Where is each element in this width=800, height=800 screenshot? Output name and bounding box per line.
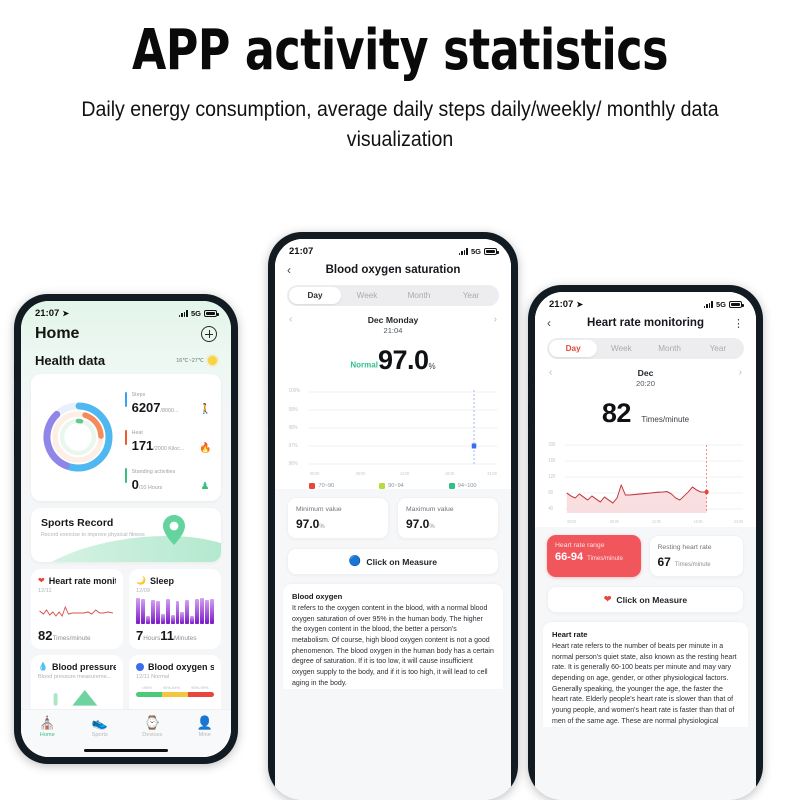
phone-center-blood-oxygen: 21:07 5G ‹ Blood oxygen saturation: [268, 232, 518, 800]
reading-value: 97.0: [378, 345, 429, 375]
mini-card-title: Blood pressure monitoring: [52, 662, 116, 672]
status-bar-right: 21:07 ➤ 5G: [535, 292, 756, 312]
svg-text:12:00: 12:00: [652, 519, 661, 524]
mini-card-title: Sleep: [150, 576, 174, 586]
svg-text:120: 120: [548, 474, 555, 479]
signal-icon: [459, 248, 468, 255]
blood-drop-icon: 🔵: [349, 556, 361, 567]
tab-day[interactable]: Day: [289, 287, 341, 304]
mini-card-value: 82: [38, 628, 52, 643]
sun-icon: [208, 356, 217, 365]
spo2-band-gauge: <90% 90%-94% 95%-99%: [136, 685, 214, 697]
sleep-bar-chart: [136, 598, 214, 624]
temperature-label: 16℃~27℃: [176, 358, 204, 364]
svg-text:24:00: 24:00: [734, 519, 743, 524]
prev-date-icon[interactable]: ‹: [549, 367, 552, 378]
blood-pressure-illustration: [38, 684, 116, 710]
card-value: 66-94: [555, 551, 583, 563]
mini-card-unit: Hours: [143, 635, 160, 642]
reading-value: 82: [602, 398, 631, 428]
heart-icon: ❤: [38, 576, 45, 585]
svg-text:80: 80: [548, 490, 553, 495]
phone-right-heart-rate: 21:07 ➤ 5G ‹ Heart rate monitoring ⋮: [528, 285, 763, 800]
tab-year[interactable]: Year: [694, 340, 742, 357]
page-title: APP activity statistics: [48, 22, 752, 81]
page-subtitle: Daily energy consumption, average daily …: [28, 95, 772, 156]
reading-unit: %: [429, 362, 436, 371]
heart-rate-range-card: Heart rate range 66-94Times/minute: [547, 535, 641, 577]
signal-icon: [704, 301, 713, 308]
network-label: 5G: [471, 247, 481, 256]
status-badge: Normal: [350, 360, 378, 369]
metric-value: 171: [132, 438, 154, 453]
svg-text:24:00: 24:00: [487, 471, 497, 476]
mini-card-title: Blood oxygen saturation: [148, 662, 214, 672]
svg-text:97%: 97%: [289, 443, 299, 449]
metric-heat: Heat 171/2000 Kiloc... 🔥: [125, 421, 211, 453]
tab-sports[interactable]: 👟 Sports: [74, 716, 127, 738]
sports-record-card[interactable]: Sports Record Record exercise to improve…: [31, 508, 221, 562]
chevron-left-icon[interactable]: ‹: [287, 263, 301, 277]
svg-text:160: 160: [548, 458, 555, 463]
reading-unit: Times/minute: [641, 415, 689, 424]
metric-goal: /10 Hours: [139, 485, 162, 491]
info-title: Heart rate: [552, 630, 739, 639]
minimum-value-card: Minimum value 97.0%: [287, 497, 389, 539]
tab-month[interactable]: Month: [393, 287, 445, 304]
battery-icon: [729, 301, 742, 308]
band-label: 90%-94%: [163, 685, 180, 690]
measure-button-label: Click on Measure: [366, 557, 437, 567]
walking-person-icon: 🚶: [199, 404, 211, 415]
svg-text:99%: 99%: [289, 407, 299, 413]
card-label: Resting heart rate: [658, 543, 736, 552]
mini-card-blood-oxygen[interactable]: Blood oxygen saturation 12/11 Normal <90…: [129, 655, 221, 716]
prev-date-icon[interactable]: ‹: [289, 314, 292, 325]
health-data-title: Health data: [35, 353, 105, 368]
spo2-legend: 70~90 90~94 94~100: [287, 483, 499, 489]
page-root: APP activity statistics Daily energy con…: [0, 0, 800, 800]
mini-card-heart-rate[interactable]: ❤ Heart rate monitoring 12/11 82Times/mi…: [31, 569, 123, 649]
network-label: 5G: [191, 309, 201, 318]
mini-card-value-2: 11: [160, 628, 174, 643]
spo2-reading: Normal97.0%: [275, 343, 511, 380]
blood-oxygen-info: Blood oxygen It refers to the oxygen con…: [283, 584, 503, 689]
svg-text:200: 200: [548, 442, 555, 447]
map-pin-icon: [161, 514, 187, 551]
info-body: Heart rate refers to the number of beats…: [552, 642, 739, 727]
card-unit: %: [429, 524, 434, 530]
phone-left-home: 21:07 ➤ 5G Home Health data: [14, 294, 238, 764]
tab-devices[interactable]: ⌚ Devices: [126, 716, 179, 738]
svg-text:100%: 100%: [289, 388, 301, 394]
tab-week[interactable]: Week: [341, 287, 393, 304]
heart-rate-summary-cards: Heart rate range 66-94Times/minute Resti…: [547, 535, 744, 577]
legend-item: 90~94: [379, 483, 404, 489]
date-navigator: ‹ Dec ›: [535, 359, 756, 379]
standing-person-icon: ♟: [199, 481, 211, 492]
measure-button[interactable]: ❤ Click on Measure: [547, 586, 744, 613]
card-value: 97.0: [296, 517, 319, 531]
heart-rate-reading: 82 Times/minute: [535, 396, 756, 433]
date-navigator: ‹ Dec Monday ›: [275, 306, 511, 326]
reading-time: 21:04: [275, 326, 511, 337]
mini-card-date: Blood pressure measureme...: [38, 674, 116, 680]
heart-rate-sparkline: [38, 598, 116, 624]
battery-icon: [204, 310, 217, 317]
card-label: Maximum value: [406, 505, 490, 514]
tab-year[interactable]: Year: [445, 287, 497, 304]
status-time: 21:07: [35, 308, 59, 319]
metric-label: Heat: [132, 430, 143, 436]
tab-day[interactable]: Day: [549, 340, 597, 357]
svg-text:96%: 96%: [289, 461, 299, 467]
next-date-icon[interactable]: ›: [494, 314, 497, 325]
tab-month[interactable]: Month: [646, 340, 694, 357]
flame-icon: 🔥: [199, 443, 211, 454]
status-time: 21:07: [289, 246, 313, 257]
metric-goal: /2000 Kiloc...: [153, 446, 184, 452]
metric-label: Steps: [132, 392, 146, 398]
network-label: 5G: [716, 300, 726, 309]
svg-text:18:00: 18:00: [445, 471, 455, 476]
home-indicator: [84, 749, 168, 752]
svg-text:98%: 98%: [289, 425, 299, 431]
signal-icon: [179, 310, 188, 317]
decorative-swoosh: [31, 524, 221, 562]
home-navbar: Home: [21, 321, 231, 343]
tab-mine[interactable]: 👤 Mine: [179, 716, 232, 738]
spo2-chart: 100%99%98% 97%96% 00:0006:0012:00 18:002…: [285, 382, 501, 478]
svg-text:18:00: 18:00: [694, 519, 703, 524]
mini-card-sleep[interactable]: 🌙 Sleep 12/09 7Hours11Minutes: [129, 569, 221, 649]
plus-circle-icon[interactable]: [201, 326, 217, 342]
status-time: 21:07: [549, 299, 573, 310]
measure-button[interactable]: 🔵 Click on Measure: [287, 548, 499, 575]
location-arrow-icon: ➤: [62, 309, 69, 318]
center-screen: 21:07 5G ‹ Blood oxygen saturation: [275, 239, 511, 800]
info-title: Blood oxygen: [292, 592, 494, 601]
info-body: It refers to the oxygen content in the b…: [292, 604, 494, 689]
mini-card-blood-pressure[interactable]: 💧 Blood pressure monitoring Blood pressu…: [31, 655, 123, 716]
location-arrow-icon: ➤: [576, 300, 583, 309]
heart-icon: ❤: [604, 594, 612, 605]
watch-icon: ⌚: [126, 716, 179, 729]
band-label: <90%: [141, 685, 151, 690]
heart-rate-chart: 200160120 8040 00:0006:0012:00 18:0024:0…: [545, 435, 746, 527]
metric-value: 0: [132, 477, 139, 492]
shoe-icon: 👟: [74, 716, 127, 729]
page-header: APP activity statistics Daily energy con…: [0, 0, 800, 156]
metric-steps: Steps 6207/8000... 🚶: [125, 383, 211, 415]
droplet-icon: 💧: [38, 662, 48, 671]
mini-card-date: 12/11 Normal: [136, 674, 214, 680]
tab-home[interactable]: ⛪ Home: [21, 716, 74, 738]
legend-item: 94~100: [449, 483, 477, 489]
maximum-value-card: Maximum value 97.0%: [397, 497, 499, 539]
tab-label: Mine: [179, 732, 232, 738]
metric-value: 6207: [132, 400, 161, 415]
health-data-header: Health data 16℃~27℃: [21, 343, 231, 374]
tab-week[interactable]: Week: [597, 340, 645, 357]
legend-item: 70~90: [309, 483, 334, 489]
right-navbar: ‹ Heart rate monitoring ⋮: [535, 312, 756, 338]
tab-label: Sports: [74, 732, 127, 738]
current-date: Dec Monday: [368, 315, 419, 325]
svg-text:40: 40: [548, 506, 553, 511]
current-date: Dec: [638, 368, 654, 378]
card-unit: Times/minute: [675, 562, 711, 568]
svg-text:06:00: 06:00: [610, 519, 619, 524]
card-label: Minimum value: [296, 505, 380, 514]
reading-time: 20:20: [535, 379, 756, 390]
svg-text:06:00: 06:00: [356, 471, 366, 476]
metric-label: Standing activities: [132, 469, 176, 475]
card-label: Heart rate range: [555, 542, 633, 549]
period-tabs: Day Week Month Year: [547, 338, 744, 359]
period-tabs: Day Week Month Year: [287, 285, 499, 306]
battery-icon: [484, 248, 497, 255]
band-label: 95%-99%: [191, 685, 208, 690]
page-title: Heart rate monitoring: [561, 317, 730, 329]
mini-card-unit-2: Minutes: [174, 635, 196, 642]
mini-card-date: 12/11: [38, 588, 116, 594]
mini-card-unit: Times/minute: [52, 635, 90, 642]
tab-label: Devices: [126, 732, 179, 738]
min-max-cards: Minimum value 97.0% Maximum value 97.0%: [287, 497, 499, 539]
heart-rate-info: Heart rate Heart rate refers to the numb…: [543, 622, 748, 727]
svg-text:12:00: 12:00: [400, 471, 410, 476]
card-value: 67: [658, 555, 671, 569]
center-navbar: ‹ Blood oxygen saturation: [275, 259, 511, 285]
status-bar-left: 21:07 ➤ 5G: [21, 301, 231, 321]
chevron-left-icon[interactable]: ‹: [547, 316, 561, 330]
measure-button-label: Click on Measure: [616, 595, 687, 605]
mini-card-grid: ❤ Heart rate monitoring 12/11 82Times/mi…: [31, 569, 221, 716]
left-screen: 21:07 ➤ 5G Home Health data: [21, 301, 231, 757]
resting-heart-rate-card: Resting heart rate 67Times/minute: [649, 535, 745, 577]
mini-card-date: 12/09: [136, 588, 214, 594]
metric-standing: Standing activities 0/10 Hours ♟: [125, 460, 211, 492]
more-vertical-icon[interactable]: ⋮: [730, 317, 744, 330]
circle-icon: [136, 663, 144, 671]
home-title: Home: [35, 325, 79, 343]
metric-goal: /8000...: [161, 408, 179, 414]
right-screen: 21:07 ➤ 5G ‹ Heart rate monitoring ⋮: [535, 292, 756, 800]
svg-text:00:00: 00:00: [310, 471, 320, 476]
moon-icon: 🌙: [136, 576, 146, 585]
status-bar-center: 21:07 5G: [275, 239, 511, 259]
activity-rings-card[interactable]: Steps 6207/8000... 🚶 Heat 171/2000 Kiloc…: [31, 374, 221, 501]
tab-label: Home: [21, 732, 74, 738]
mini-card-title: Heart rate monitoring: [49, 576, 116, 586]
activity-rings-chart: [37, 396, 119, 478]
card-unit: %: [319, 524, 324, 530]
page-title: Blood oxygen saturation: [301, 264, 485, 276]
card-unit: Times/minute: [587, 556, 623, 562]
card-value: 97.0: [406, 517, 429, 531]
next-date-icon[interactable]: ›: [739, 367, 742, 378]
svg-text:00:00: 00:00: [567, 519, 576, 524]
home-icon: ⛪: [21, 716, 74, 729]
person-icon: 👤: [179, 716, 232, 729]
